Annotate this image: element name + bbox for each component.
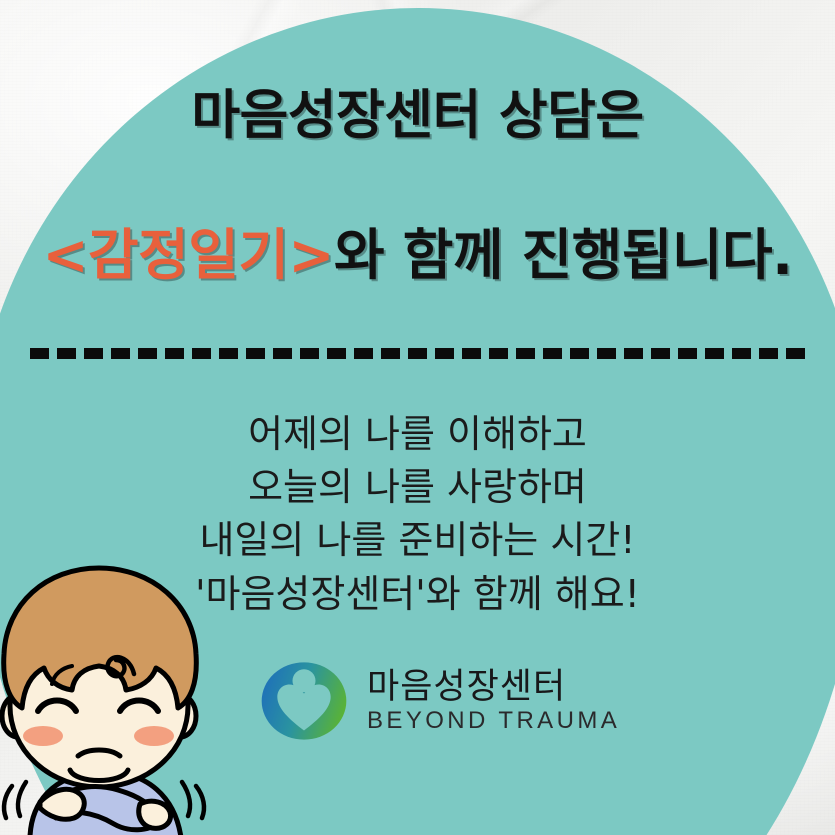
heart-person-logo-icon [258,655,350,747]
mascot-motion-lines-left [4,782,26,818]
headline-accent-text: <감정일기> [42,223,334,287]
logo-lockup: 마음성장센터 BEYOND TRAUMA [258,655,620,747]
logo-name-korean: 마음성장센터 [367,670,620,705]
dashed-divider [30,348,810,359]
mascot-motion-lines-right [182,782,204,818]
logo-name-english: BEYOND TRAUMA [367,709,620,733]
sad-child-hugging-self-illustration [0,556,238,835]
headline-line-2-rest: 와 함께 진행됩니다. [334,223,793,287]
headline-block: 마음성장센터 상담은 <감정일기>와 함께 진행됩니다. [0,88,835,284]
mascot-neck [70,770,128,781]
mascot-hand-left [40,789,84,819]
poster-canvas: 마음성장센터 상담은 <감정일기>와 함께 진행됩니다. 어제의 나를 이해하고… [0,0,835,835]
logo-text-block: 마음성장센터 BEYOND TRAUMA [367,670,620,733]
headline-line-1: 마음성장센터 상담은 [0,88,835,144]
headline-line-2: <감정일기>와 함께 진행됩니다. [0,226,835,284]
body-line-2: 오늘의 나를 사랑하며 [0,461,835,514]
body-line-1: 어제의 나를 이해하고 [0,408,835,461]
mascot-hand-right [139,801,171,828]
mascot-blush-right [134,726,174,746]
mascot-blush-left [23,726,63,746]
